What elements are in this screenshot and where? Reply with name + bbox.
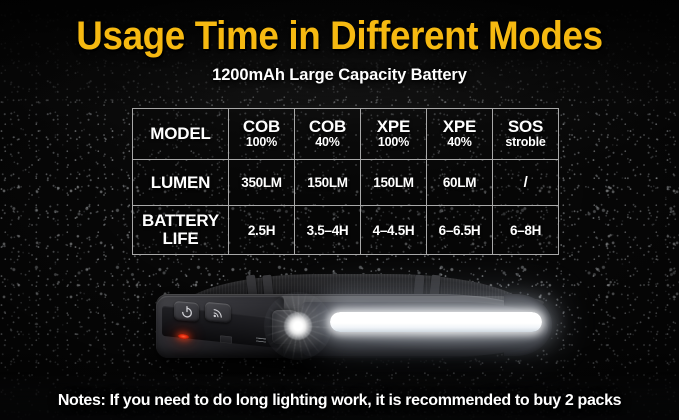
mode-level-4: 40% — [427, 136, 492, 150]
page-subtitle: 1200mAh Large Capacity Battery — [0, 66, 679, 85]
table-rowlabel-battery-life: BATTERY LIFE — [133, 206, 229, 255]
table-row-battery-life: BATTERY LIFE 2.5H 3.5–4H 4–4.5H 6–6.5H 6… — [133, 206, 559, 255]
table-rowlabel-lumen: LUMEN — [133, 160, 229, 206]
mode-name-5: SOS — [493, 118, 558, 135]
battery-life-value-5: 6–8H — [493, 206, 559, 255]
mode-level-1: 100% — [229, 136, 294, 150]
lumen-value-3: 150LM — [361, 160, 427, 206]
mode-name-2: COB — [295, 118, 360, 135]
table-cell-mode-3: XPE 100% — [361, 109, 427, 160]
battery-life-value-3: 4–4.5H — [361, 206, 427, 255]
motion-sensor-button[interactable] — [205, 302, 231, 323]
usage-time-table: MODEL COB 100% COB 40% XPE 100% XPE 40% — [132, 108, 559, 255]
table-cell-mode-1: COB 100% — [229, 109, 295, 160]
lumen-value-2: 150LM — [295, 160, 361, 206]
battery-life-value-1: 2.5H — [229, 206, 295, 255]
battery-life-value-2: 3.5–4H — [295, 206, 361, 255]
table-row-lumen: LUMEN 350LM 150LM 150LM 60LM / — [133, 160, 559, 206]
mode-level-3: 100% — [361, 136, 426, 150]
housing-label-badge — [220, 335, 232, 343]
lumen-value-5: / — [493, 160, 559, 206]
table-rowlabel-model: MODEL — [133, 109, 229, 160]
table-cell-mode-5: SOS stroble — [493, 109, 559, 160]
mode-name-4: XPE — [427, 118, 492, 135]
page-title: Usage Time in Different Modes — [27, 16, 652, 56]
lumen-value-4: 60LM — [427, 160, 493, 206]
table-row-model: MODEL COB 100% COB 40% XPE 100% XPE 40% — [133, 109, 559, 160]
footer-notes: Notes: If you need to do long lighting w… — [0, 392, 679, 410]
led-headlamp-product-image — [152, 272, 552, 380]
battery-life-value-4: 6–6.5H — [427, 206, 493, 255]
motion-sensor-icon — [212, 305, 225, 319]
mode-name-3: XPE — [361, 118, 426, 135]
mode-level-5: stroble — [493, 136, 558, 150]
table-cell-mode-2: COB 40% — [295, 109, 361, 160]
lumen-value-1: 350LM — [229, 160, 295, 206]
xpe-spotlight-core — [284, 312, 312, 340]
cob-strip-sheen — [338, 314, 534, 322]
mode-name-1: COB — [229, 118, 294, 135]
power-button[interactable] — [174, 301, 199, 322]
product-infographic: Usage Time in Different Modes 1200mAh La… — [0, 0, 679, 420]
table-cell-mode-4: XPE 40% — [427, 109, 493, 160]
mode-level-2: 40% — [295, 136, 360, 150]
power-icon — [180, 304, 193, 318]
